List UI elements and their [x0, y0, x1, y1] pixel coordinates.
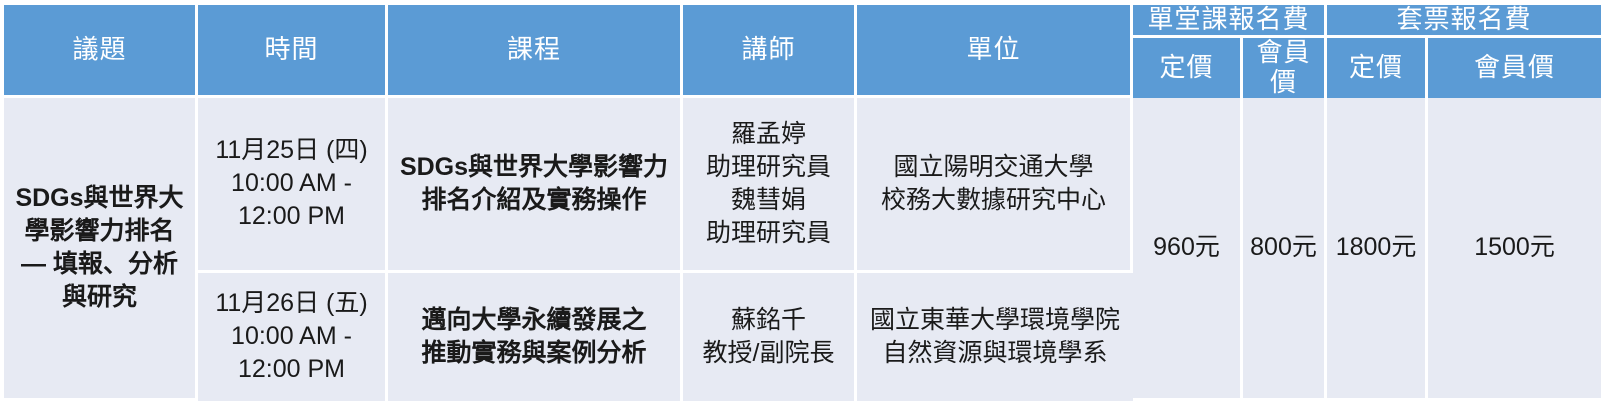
column-header-lecturer: 講師	[683, 5, 857, 98]
lecturer-name-2: 魏彗娟	[687, 184, 850, 217]
course-schedule-table: 議題 時間 課程 講師 單位 單堂課報名費 套票報名費 定價 會員價 定價 會員…	[4, 5, 1601, 401]
column-header-single-member-price: 會員價	[1243, 38, 1327, 98]
cell-package-list-price: 1800元	[1327, 98, 1428, 401]
column-header-package-member-price: 會員價	[1428, 38, 1601, 98]
table-row: SDGs與世界大 學影響力排名 — 填報、分析 與研究 11月25日 (四) 1…	[4, 98, 1601, 273]
time-end: 12:00 PM	[202, 353, 381, 386]
cell-lecturer: 蘇銘千 教授/副院長	[683, 273, 857, 401]
topic-line-4: 與研究	[8, 281, 191, 314]
course-line-2: 排名介紹及實務操作	[392, 184, 676, 217]
topic-line-1: SDGs與世界大	[8, 182, 191, 215]
course-line-2: 推動實務與案例分析	[392, 337, 676, 370]
topic-line-3: — 填報、分析	[8, 248, 191, 281]
header-row-primary: 議題 時間 課程 講師 單位 單堂課報名費 套票報名費	[4, 5, 1601, 38]
lecturer-name-1: 羅孟婷	[687, 118, 850, 151]
cell-lecturer: 羅孟婷 助理研究員 魏彗娟 助理研究員	[683, 98, 857, 273]
cell-course: SDGs與世界大學影響力 排名介紹及實務操作	[388, 98, 683, 273]
unit-line-2: 校務大數據研究中心	[861, 184, 1126, 217]
lecturer-title-2: 助理研究員	[687, 217, 850, 250]
lecturer-name-1: 蘇銘千	[687, 304, 850, 337]
unit-line-1: 國立陽明交通大學	[861, 151, 1126, 184]
cell-time: 11月26日 (五) 10:00 AM - 12:00 PM	[198, 273, 388, 401]
topic-line-2: 學影響力排名	[8, 215, 191, 248]
unit-line-2: 自然資源與環境學系	[861, 337, 1129, 370]
cell-unit: 國立陽明交通大學 校務大數據研究中心	[857, 98, 1133, 273]
cell-time: 11月25日 (四) 10:00 AM - 12:00 PM	[198, 98, 388, 273]
course-line-1: 邁向大學永續發展之	[392, 304, 676, 337]
table-header: 議題 時間 課程 講師 單位 單堂課報名費 套票報名費 定價 會員價 定價 會員…	[4, 5, 1601, 98]
time-start: 10:00 AM -	[202, 167, 381, 200]
lecturer-title-1: 助理研究員	[687, 151, 850, 184]
time-end: 12:00 PM	[202, 200, 381, 233]
column-header-single-class-fee: 單堂課報名費	[1133, 5, 1327, 38]
course-schedule-table-container: 議題 時間 課程 講師 單位 單堂課報名費 套票報名費 定價 會員價 定價 會員…	[4, 5, 1601, 401]
lecturer-title-1: 教授/副院長	[687, 337, 850, 370]
column-header-topic: 議題	[4, 5, 198, 98]
column-header-unit: 單位	[857, 5, 1133, 98]
cell-course: 邁向大學永續發展之 推動實務與案例分析	[388, 273, 683, 401]
cell-topic: SDGs與世界大 學影響力排名 — 填報、分析 與研究	[4, 98, 198, 401]
column-header-time: 時間	[198, 5, 388, 98]
column-header-course: 課程	[388, 5, 683, 98]
column-header-package-list-price: 定價	[1327, 38, 1428, 98]
time-date: 11月26日 (五)	[202, 287, 381, 320]
table-body: SDGs與世界大 學影響力排名 — 填報、分析 與研究 11月25日 (四) 1…	[4, 98, 1601, 401]
unit-line-1: 國立東華大學環境學院	[861, 304, 1129, 337]
column-header-single-list-price: 定價	[1133, 38, 1243, 98]
time-start: 10:00 AM -	[202, 320, 381, 353]
cell-package-member-price: 1500元	[1428, 98, 1601, 401]
cell-single-list-price: 960元	[1133, 98, 1243, 401]
cell-single-member-price: 800元	[1243, 98, 1327, 401]
column-header-package-fee: 套票報名費	[1327, 5, 1601, 38]
time-date: 11月25日 (四)	[202, 134, 381, 167]
cell-unit: 國立東華大學環境學院 自然資源與環境學系	[857, 273, 1133, 401]
course-line-1: SDGs與世界大學影響力	[392, 151, 676, 184]
